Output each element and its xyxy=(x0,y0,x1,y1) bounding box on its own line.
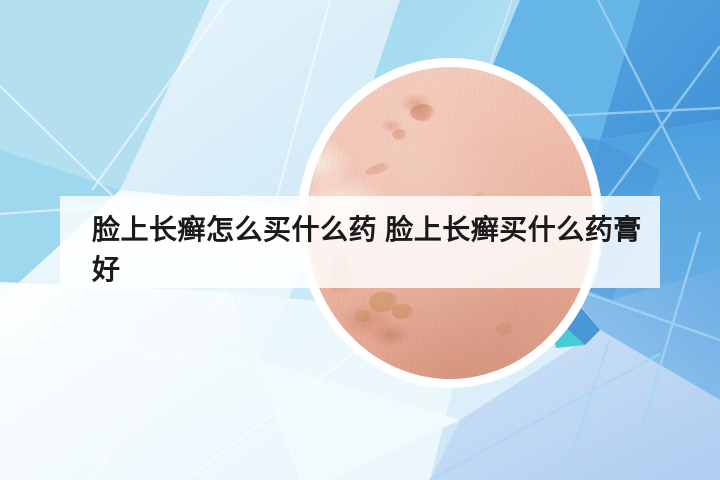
image-canvas: 脸上长癣怎么买什么药 脸上长癣买什么药膏好 xyxy=(0,0,720,480)
caption-title: 脸上长癣怎么买什么药 脸上长癣买什么药膏好 xyxy=(92,210,652,290)
